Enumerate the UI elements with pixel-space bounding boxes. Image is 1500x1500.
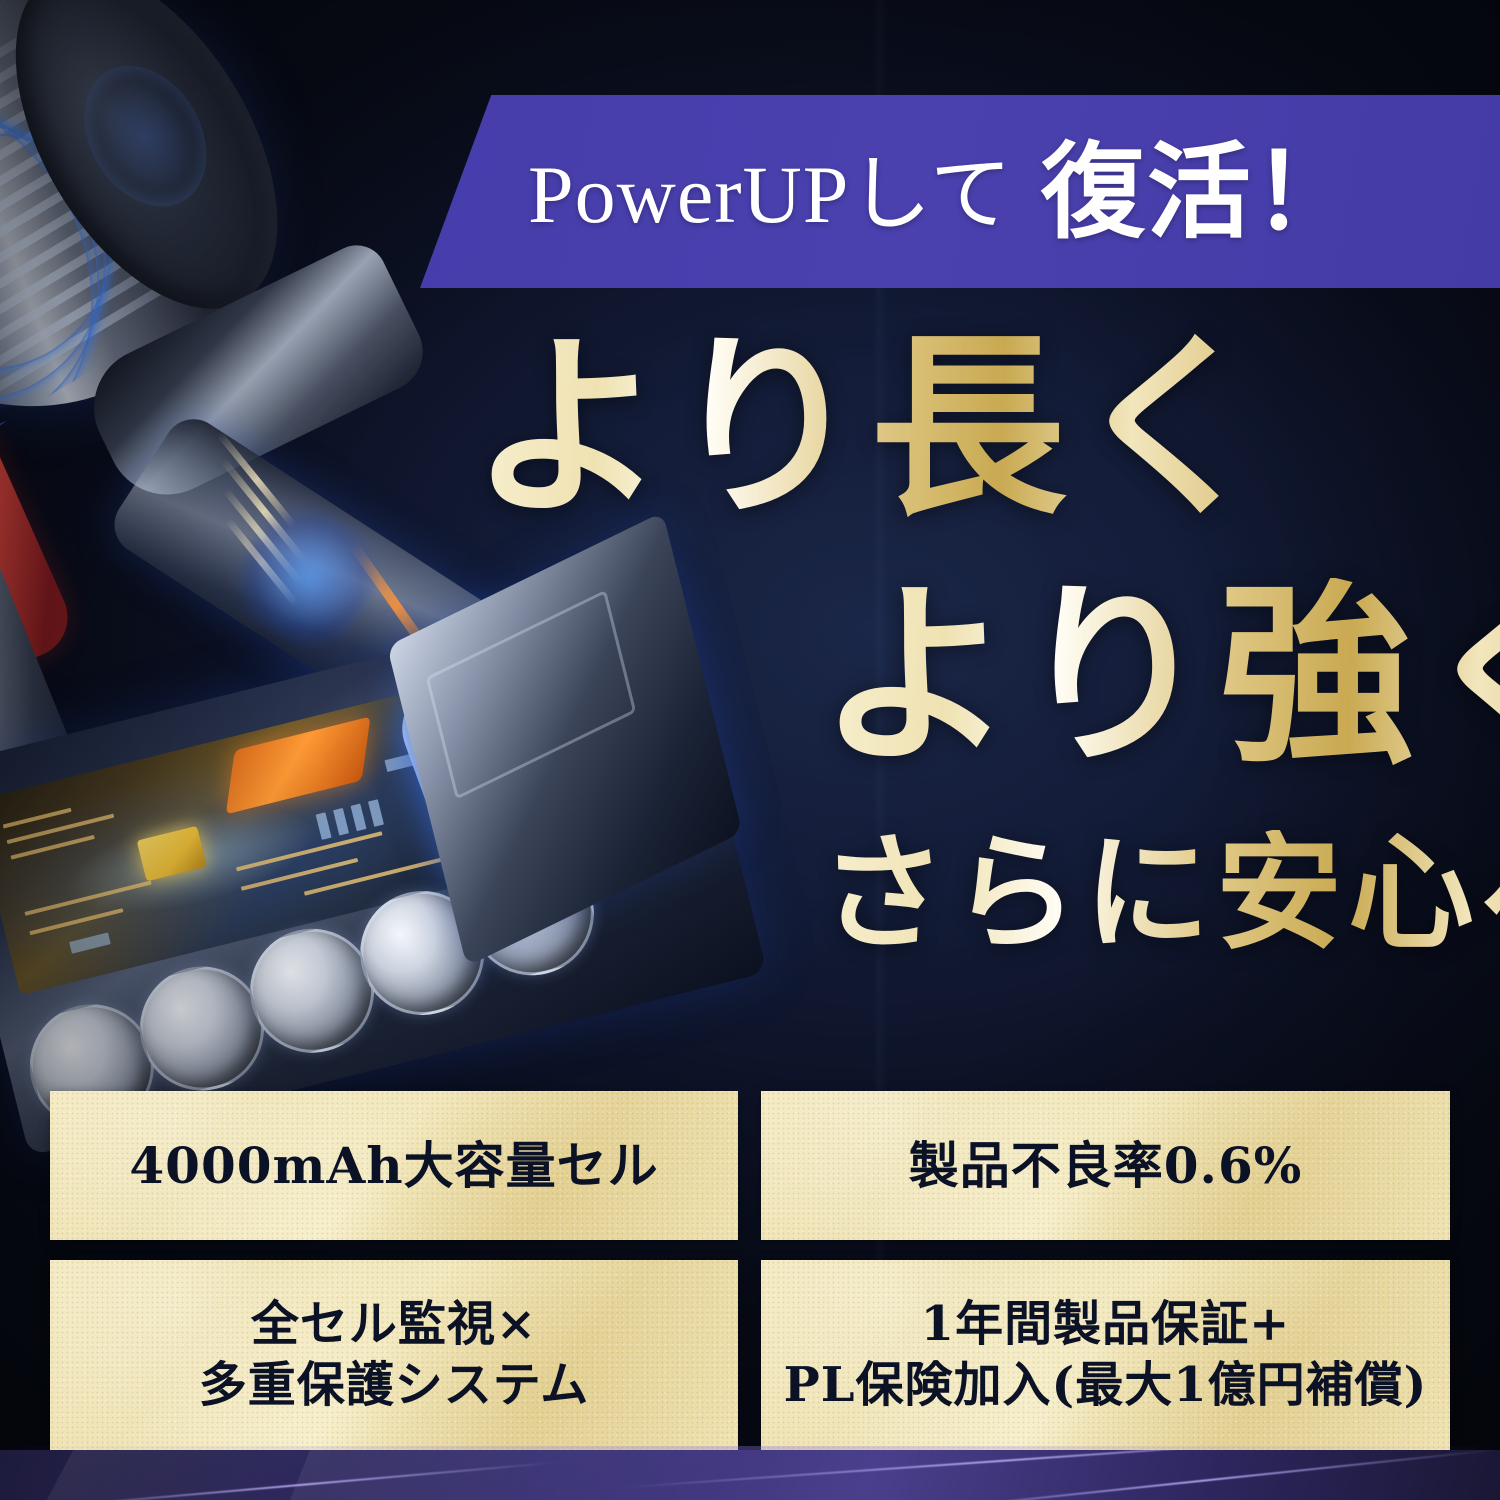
feature-box-capacity: 4000mAh大容量セル bbox=[50, 1091, 738, 1240]
feature-defect-label: 製品不良率0.6% bbox=[909, 1134, 1303, 1198]
feature-capacity-label: 4000mAh大容量セル bbox=[129, 1134, 658, 1198]
promo-banner-page: PowerUPして復活！ より長く より強く さらに安心へ 4000mAh大容量… bbox=[0, 0, 1500, 1500]
feature-warranty-label: 1年間製品保証+ PL保険加入(最大1億円補償) bbox=[784, 1294, 1428, 1417]
gold-headline: より長く より強く さらに安心へ bbox=[460, 330, 1490, 990]
feature-monitoring-line-2: 多重保護システム bbox=[199, 1355, 590, 1416]
feature-monitoring-label: 全セル監視× 多重保護システム bbox=[199, 1294, 590, 1417]
feature-box-warranty: 1年間製品保証+ PL保険加入(最大1億円補償) bbox=[761, 1260, 1450, 1450]
bottom-decorative-band bbox=[0, 1450, 1500, 1500]
feature-box-defect-rate: 製品不良率0.6% bbox=[761, 1091, 1450, 1240]
feature-box-monitoring: 全セル監視× 多重保護システム bbox=[50, 1260, 738, 1450]
headline-banner: PowerUPして復活！ bbox=[420, 95, 1500, 288]
feature-monitoring-line-1: 全セル監視× bbox=[199, 1294, 590, 1355]
feature-warranty-line-1: 1年間製品保証+ bbox=[784, 1294, 1428, 1355]
banner-prefix: PowerUPして bbox=[528, 149, 1013, 240]
feature-warranty-line-2: PL保険加入(最大1億円補償) bbox=[784, 1355, 1428, 1416]
banner-text: PowerUPして復活！ bbox=[528, 140, 1359, 244]
feature-box-grid: 4000mAh大容量セル 製品不良率0.6% 全セル監視× 多重保護システム 1… bbox=[50, 1091, 1450, 1450]
headline-line-2: より強く bbox=[818, 578, 1500, 774]
banner-kanji: 復活！ bbox=[1041, 130, 1359, 253]
headline-line-3: さらに安心へ bbox=[820, 830, 1500, 956]
headline-line-1: より長く bbox=[470, 330, 1274, 526]
